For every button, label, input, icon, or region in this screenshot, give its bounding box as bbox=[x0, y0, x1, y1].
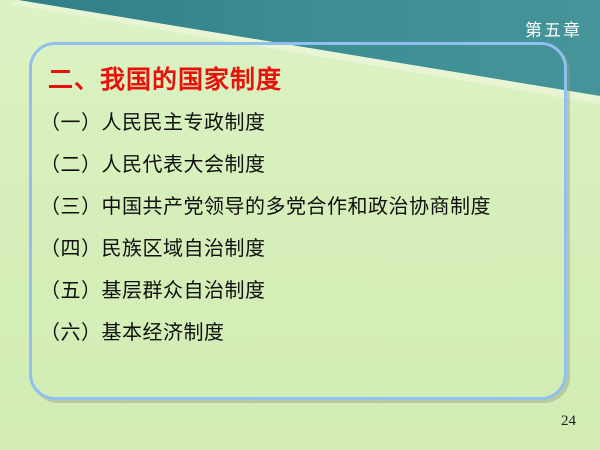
list-item: （一）人民民主专政制度 bbox=[40, 102, 570, 144]
content-area: 二、我国的国家制度 （一）人民民主专政制度 （二）人民代表大会制度 （三）中国共… bbox=[40, 60, 570, 354]
list-item: （五）基层群众自治制度 bbox=[40, 270, 570, 312]
list-item: （六）基本经济制度 bbox=[40, 312, 570, 354]
list-item: （三）中国共产党领导的多党合作和政治协商制度 bbox=[40, 186, 570, 228]
list-item: （四）民族区域自治制度 bbox=[40, 228, 570, 270]
page-number: 24 bbox=[561, 413, 576, 430]
list-item: （二）人民代表大会制度 bbox=[40, 144, 570, 186]
institution-list: （一）人民民主专政制度 （二）人民代表大会制度 （三）中国共产党领导的多党合作和… bbox=[40, 102, 570, 354]
chapter-label: 第五章 bbox=[525, 16, 582, 41]
page-title: 二、我国的国家制度 bbox=[48, 60, 570, 96]
slide-canvas: 第五章 二、我国的国家制度 （一）人民民主专政制度 （二）人民代表大会制度 （三… bbox=[0, 0, 600, 450]
